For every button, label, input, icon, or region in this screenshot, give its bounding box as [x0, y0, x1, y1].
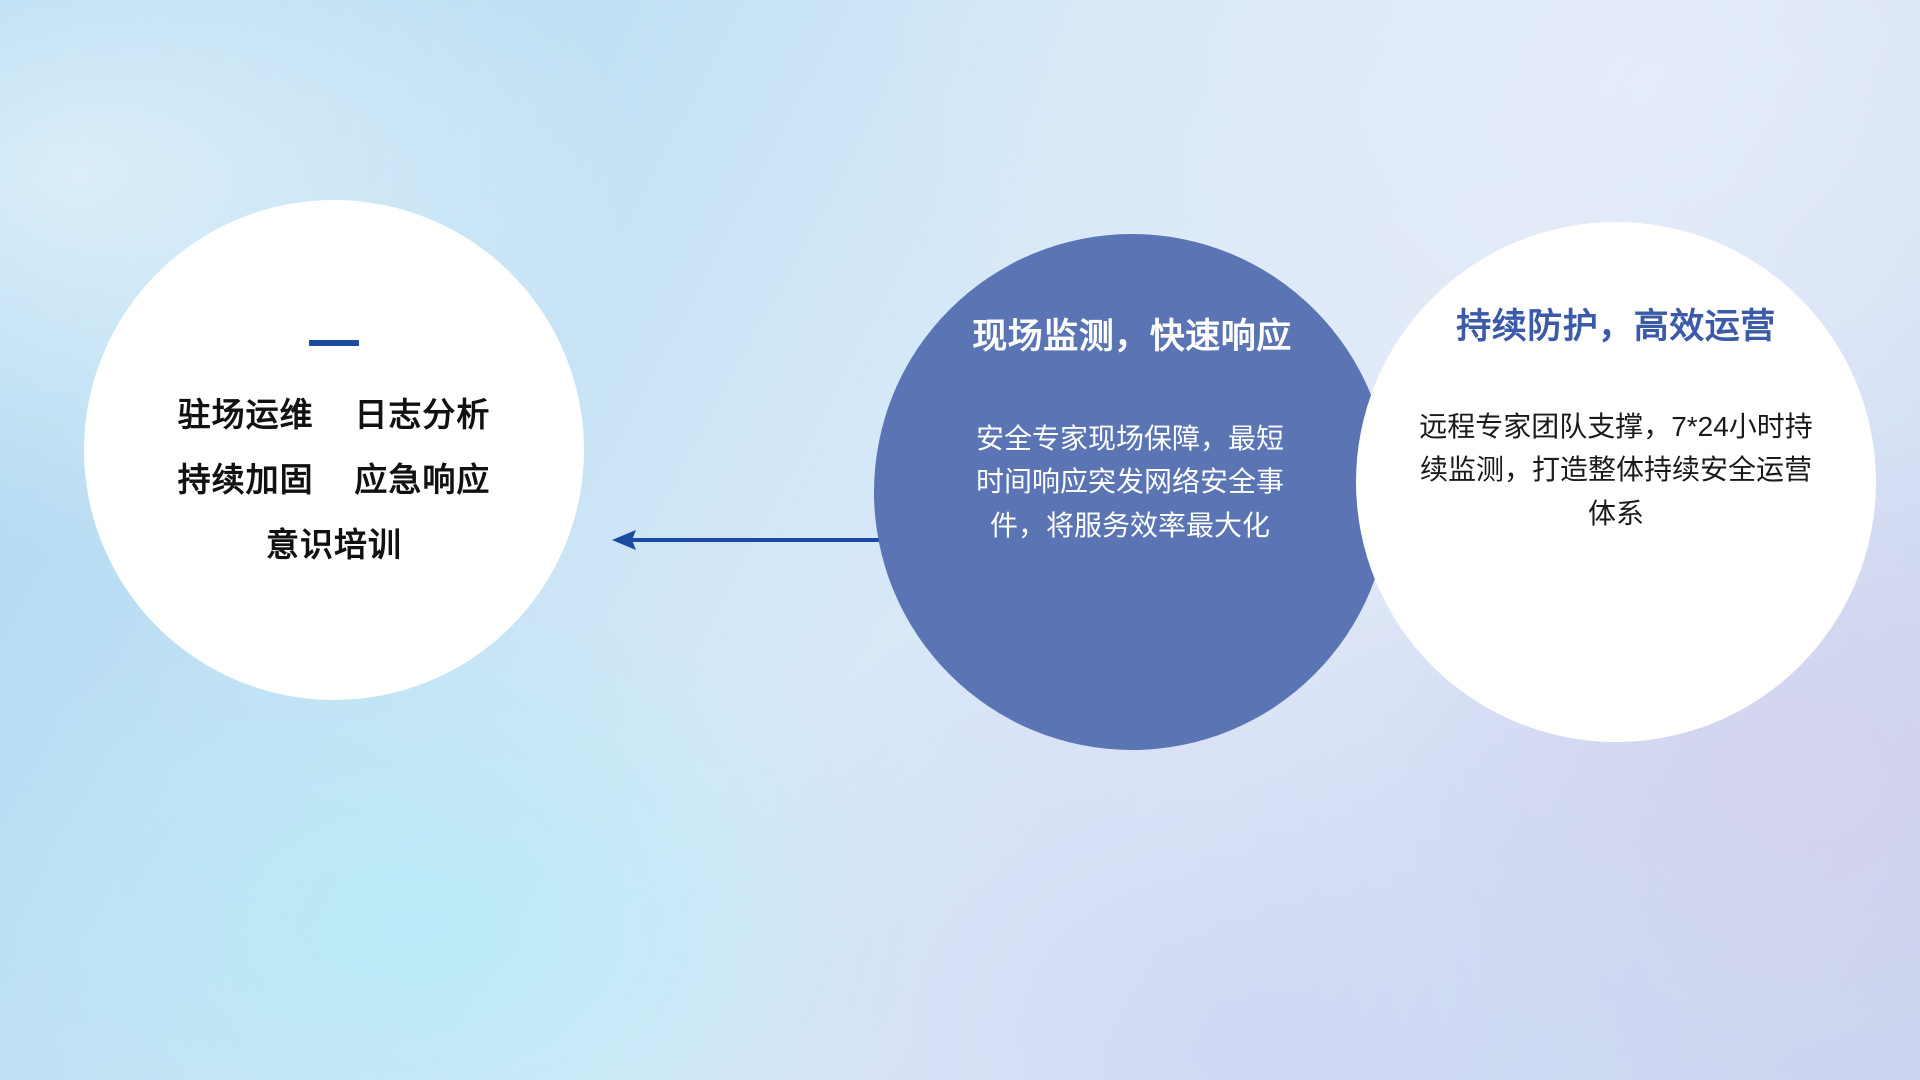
capabilities-circle-content: 驻场运维 日志分析 持续加固 应急响应 意识培训: [84, 200, 584, 700]
leftward-arrow: [610, 525, 900, 555]
continuous-protection-body: 远程专家团队支撑，7*24小时持续监测，打造整体持续安全运营体系: [1410, 405, 1822, 535]
onsite-monitoring-circle: 现场监测，快速响应 安全专家现场保障，最短时间响应突发网络安全事件，将服务效率最…: [874, 234, 1390, 750]
leftward-arrow-icon: [610, 525, 900, 555]
divider-dash-icon: [309, 340, 359, 346]
onsite-monitoring-title: 现场监测，快速响应: [972, 308, 1292, 359]
capability-line-2: 持续加固 应急响应: [178, 463, 491, 496]
continuous-protection-title: 持续防护，高效运营: [1456, 298, 1776, 349]
capability-line-3: 意识培训: [266, 528, 402, 561]
onsite-monitoring-body: 安全专家现场保障，最短时间响应突发网络安全事件，将服务效率最大化: [965, 417, 1295, 547]
capability-line-1: 驻场运维 日志分析: [178, 398, 491, 431]
continuous-protection-circle: 持续防护，高效运营 远程专家团队支撑，7*24小时持续监测，打造整体持续安全运营…: [1356, 222, 1876, 742]
continuous-protection-content: 持续防护，高效运营 远程专家团队支撑，7*24小时持续监测，打造整体持续安全运营…: [1356, 222, 1876, 742]
onsite-monitoring-content: 现场监测，快速响应 安全专家现场保障，最短时间响应突发网络安全事件，将服务效率最…: [874, 234, 1390, 750]
capabilities-circle: 驻场运维 日志分析 持续加固 应急响应 意识培训: [84, 200, 584, 700]
slide-canvas: 驻场运维 日志分析 持续加固 应急响应 意识培训 现场监测，快速响应 安全专家现…: [0, 0, 1920, 1080]
